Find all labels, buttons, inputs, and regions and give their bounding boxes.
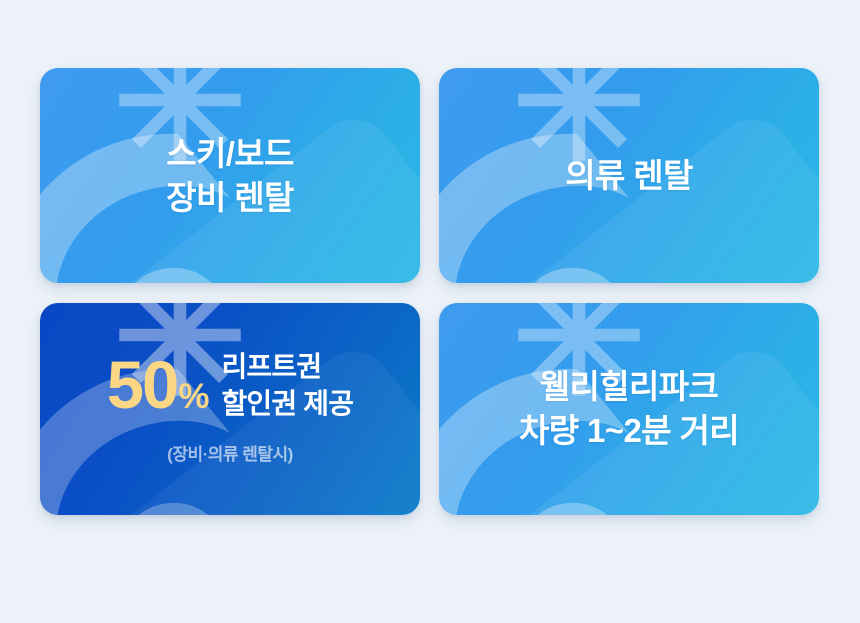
discount-number: 50 [107, 352, 178, 419]
promo-card-lift-ticket-discount[interactable]: 50 % 리프트권 할인권 제공 (장비·의류 렌탈시) [40, 303, 420, 515]
card-content: 의류 렌탈 [547, 154, 711, 198]
card-content: 스키/보드 장비 렌탈 [148, 132, 312, 220]
discount-headline-row: 50 % 리프트권 할인권 제공 [40, 349, 420, 422]
promo-card-clothing-rental[interactable]: 의류 렌탈 [439, 68, 819, 283]
swirl-shape-icon [439, 120, 681, 283]
card-content: 웰리힐리파크 차량 1~2분 거리 [501, 365, 757, 453]
discount-figure: 50 % [107, 352, 209, 419]
card-content: 50 % 리프트권 할인권 제공 (장비·의류 렌탈시) [40, 353, 420, 465]
promo-card-grid: 스키/보드 장비 렌탈 의류 렌탈 [40, 68, 819, 515]
card-title: 웰리힐리파크 차량 1~2분 거리 [519, 365, 739, 453]
discount-note: (장비·의류 렌탈시) [40, 440, 420, 465]
promo-card-welli-hilli-park-distance[interactable]: 웰리힐리파크 차량 1~2분 거리 [439, 303, 819, 515]
card-title: 스키/보드 장비 렌탈 [166, 132, 294, 220]
promo-card-ski-board-equipment-rental[interactable]: 스키/보드 장비 렌탈 [40, 68, 420, 283]
discount-headline: 리프트권 할인권 제공 [221, 349, 353, 422]
snowflake-icon [513, 68, 645, 166]
discount-unit: % [178, 379, 208, 414]
card-title: 의류 렌탈 [565, 154, 693, 198]
